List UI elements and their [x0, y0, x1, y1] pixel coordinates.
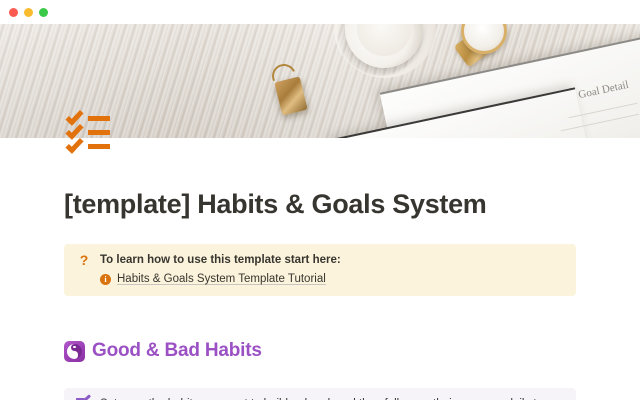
section-title[interactable]: Good & Bad Habits	[92, 340, 262, 362]
question-mark-icon: ?	[76, 253, 92, 268]
habits-callout[interactable]: Set once the habits you want to build or…	[64, 388, 576, 400]
tutorial-callout-text: To learn how to use this template start …	[100, 253, 341, 268]
maximize-button[interactable]	[39, 8, 48, 17]
page-content: [template] Habits & Goals System ? To le…	[0, 138, 640, 400]
coffee-cup-inner	[357, 24, 411, 56]
page-title[interactable]: [template] Habits & Goals System	[64, 191, 576, 218]
tutorial-link-row[interactable]: i Habits & Goals System Template Tutoria…	[100, 273, 564, 285]
app-window: Goal Detail Goal Detail [template] Habit…	[0, 0, 640, 400]
checklist-bar	[88, 116, 110, 121]
info-icon: i	[100, 274, 111, 285]
checklist-bar	[88, 130, 110, 135]
tutorial-callout-row: ? To learn how to use this template star…	[76, 253, 564, 268]
yin-yang-dot-bottom	[73, 354, 75, 356]
close-button[interactable]	[9, 8, 18, 17]
section-heading-good-and-bad-habits[interactable]: Good & Bad Habits	[64, 340, 576, 362]
minimize-button[interactable]	[24, 8, 33, 17]
tutorial-link[interactable]: Habits & Goals System Template Tutorial	[117, 273, 326, 285]
yin-yang-icon	[64, 341, 85, 362]
window-titlebar	[0, 0, 640, 24]
tutorial-callout[interactable]: ? To learn how to use this template star…	[64, 244, 576, 296]
yin-yang-symbol	[67, 344, 82, 359]
yin-yang-dot-top	[73, 346, 75, 348]
